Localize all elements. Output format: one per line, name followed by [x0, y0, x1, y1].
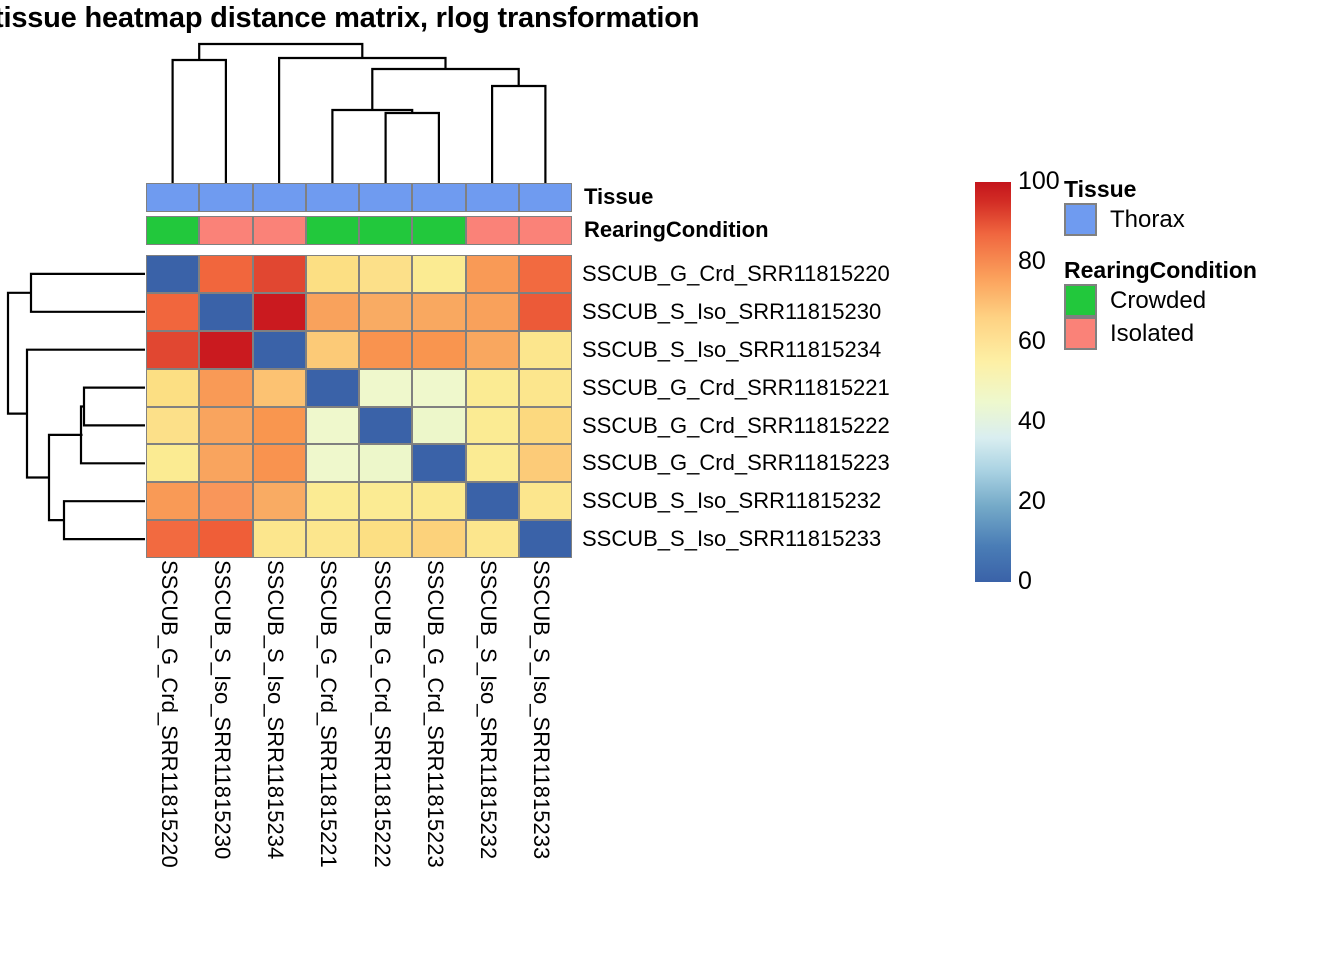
heatmap-cell [519, 369, 572, 407]
colorbar-tick-label: 40 [1018, 409, 1046, 434]
heatmap-cell [253, 331, 306, 369]
heatmap-cell [253, 369, 306, 407]
annotation-cell-rearingcondition [412, 216, 465, 245]
annotation-cell-tissue [466, 183, 519, 212]
heatmap-cell [146, 407, 199, 445]
legend-label: Thorax [1110, 206, 1185, 234]
heatmap-cell [253, 255, 306, 293]
column-label: SSCUB_G_Crd_SRR11815222 [369, 560, 395, 868]
column-label: SSCUB_G_Crd_SRR11815223 [422, 560, 448, 868]
heatmap-cell [146, 520, 199, 558]
heatmap-cell [359, 293, 412, 331]
heatmap-cell [412, 331, 465, 369]
annotation-cell-tissue [199, 183, 252, 212]
annotation-cell-tissue [359, 183, 412, 212]
page-title: tissue heatmap distance matrix, rlog tra… [0, 2, 699, 35]
legend-swatch [1064, 284, 1097, 317]
heatmap-cell [306, 369, 359, 407]
colorbar-tick-label: 20 [1018, 489, 1046, 514]
colorbar-tick-label: 100 [1018, 169, 1060, 194]
annotation-label-tissue: Tissue [584, 184, 653, 210]
annotation-cell-rearingcondition [519, 216, 572, 245]
heatmap-cell [306, 407, 359, 445]
heatmap-cell [519, 293, 572, 331]
heatmap-cell [412, 407, 465, 445]
heatmap-cell [253, 482, 306, 520]
heatmap-cell [306, 255, 359, 293]
legend-panel: Tissue Thorax RearingCondition CrowdedIs… [1064, 176, 1344, 350]
heatmap-cell [412, 369, 465, 407]
row-label: SSCUB_S_Iso_SRR11815230 [582, 293, 881, 331]
column-label: SSCUB_S_Iso_SRR11815233 [528, 560, 554, 859]
row-labels: SSCUB_G_Crd_SRR11815220SSCUB_S_Iso_SRR11… [582, 255, 982, 558]
heatmap-cell [466, 255, 519, 293]
heatmap-cell [146, 331, 199, 369]
heatmap-cell [199, 369, 252, 407]
heatmap-cell [306, 520, 359, 558]
heatmap-cell [199, 482, 252, 520]
heatmap-cell [466, 293, 519, 331]
row-label: SSCUB_S_Iso_SRR11815232 [582, 482, 881, 520]
heatmap-cell [519, 255, 572, 293]
annotation-cell-tissue [519, 183, 572, 212]
heatmap-cell [199, 444, 252, 482]
column-labels: SSCUB_G_Crd_SRR11815220SSCUB_S_Iso_SRR11… [146, 560, 572, 955]
heatmap-cell [519, 520, 572, 558]
heatmap-cell [253, 293, 306, 331]
heatmap-cell [146, 444, 199, 482]
legend-title-tissue: Tissue [1064, 176, 1344, 203]
annotation-cell-rearingcondition [306, 216, 359, 245]
heatmap-cell [359, 407, 412, 445]
legend-item-rearingcondition: Isolated [1064, 317, 1344, 350]
heatmap-cell [199, 520, 252, 558]
heatmap-cell [359, 369, 412, 407]
column-label: SSCUB_S_Iso_SRR11815230 [209, 560, 235, 859]
column-label: SSCUB_S_Iso_SRR11815234 [262, 560, 288, 859]
heatmap-cell [306, 293, 359, 331]
row-label: SSCUB_G_Crd_SRR11815222 [582, 407, 890, 445]
heatmap-cell [359, 331, 412, 369]
heatmap-cell [146, 255, 199, 293]
heatmap-cell [519, 331, 572, 369]
annotation-label-rearingcondition: RearingCondition [584, 217, 769, 243]
heatmap-figure: tissue heatmap distance matrix, rlog tra… [0, 0, 1344, 960]
annotation-cell-tissue [306, 183, 359, 212]
legend-swatch [1064, 203, 1097, 236]
heatmap-cell [519, 444, 572, 482]
heatmap-cell [359, 520, 412, 558]
heatmap-cell [253, 520, 306, 558]
heatmap-cell [146, 369, 199, 407]
legend-label: Crowded [1110, 287, 1206, 315]
heatmap-cell [146, 482, 199, 520]
row-label: SSCUB_G_Crd_SRR11815220 [582, 255, 890, 293]
heatmap-cell [199, 331, 252, 369]
heatmap-cell [412, 293, 465, 331]
heatmap-cell [306, 444, 359, 482]
legend-item-tissue: Thorax [1064, 203, 1344, 236]
row-label: SSCUB_S_Iso_SRR11815234 [582, 331, 881, 369]
colorbar-gradient [975, 182, 1011, 582]
heatmap-cell [359, 255, 412, 293]
heatmap-cell [412, 255, 465, 293]
annotation-cell-rearingcondition [146, 216, 199, 245]
legend-title-rearingcondition: RearingCondition [1064, 257, 1344, 284]
heatmap-grid [146, 255, 572, 558]
heatmap-cell [306, 331, 359, 369]
annotation-cell-tissue [146, 183, 199, 212]
heatmap-cell [306, 482, 359, 520]
annotation-cell-tissue [253, 183, 306, 212]
heatmap-cell [466, 369, 519, 407]
legend-items-tissue: Thorax [1064, 203, 1344, 236]
heatmap-cell [199, 407, 252, 445]
row-label: SSCUB_G_Crd_SRR11815221 [582, 369, 890, 407]
annotation-cell-rearingcondition [199, 216, 252, 245]
row-dendrogram [4, 255, 147, 558]
legend-items-rearingcondition: CrowdedIsolated [1064, 284, 1344, 350]
column-label: SSCUB_G_Crd_SRR11815221 [315, 560, 341, 868]
row-label: SSCUB_S_Iso_SRR11815233 [582, 520, 881, 558]
heatmap-cell [199, 255, 252, 293]
heatmap-cell [519, 482, 572, 520]
heatmap-cell [466, 407, 519, 445]
heatmap-cell [253, 407, 306, 445]
heatmap-cell [359, 482, 412, 520]
heatmap-cell [466, 444, 519, 482]
heatmap-cell [199, 293, 252, 331]
heatmap-cell [466, 520, 519, 558]
legend-swatch [1064, 317, 1097, 350]
heatmap-cell [253, 444, 306, 482]
heatmap-cell [412, 520, 465, 558]
heatmap-cell [146, 293, 199, 331]
annotation-bar-tissue [146, 183, 572, 212]
column-label: SSCUB_S_Iso_SRR11815232 [475, 560, 501, 859]
annotation-cell-rearingcondition [359, 216, 412, 245]
colorbar-tick-label: 0 [1018, 569, 1032, 594]
heatmap-cell [466, 331, 519, 369]
annotation-cell-tissue [412, 183, 465, 212]
annotation-cell-rearingcondition [466, 216, 519, 245]
column-dendrogram [146, 40, 576, 185]
legend-item-rearingcondition: Crowded [1064, 284, 1344, 317]
legend-label: Isolated [1110, 320, 1194, 348]
row-label: SSCUB_G_Crd_SRR11815223 [582, 444, 890, 482]
colorbar-tick-label: 80 [1018, 249, 1046, 274]
heatmap-cell [412, 482, 465, 520]
heatmap-cell [412, 444, 465, 482]
heatmap-cell [519, 407, 572, 445]
annotation-bar-rearingcondition [146, 216, 572, 245]
heatmap-cell [466, 482, 519, 520]
column-label: SSCUB_G_Crd_SRR11815220 [156, 560, 182, 868]
heatmap-cell [359, 444, 412, 482]
annotation-cell-rearingcondition [253, 216, 306, 245]
colorbar-tick-label: 60 [1018, 329, 1046, 354]
